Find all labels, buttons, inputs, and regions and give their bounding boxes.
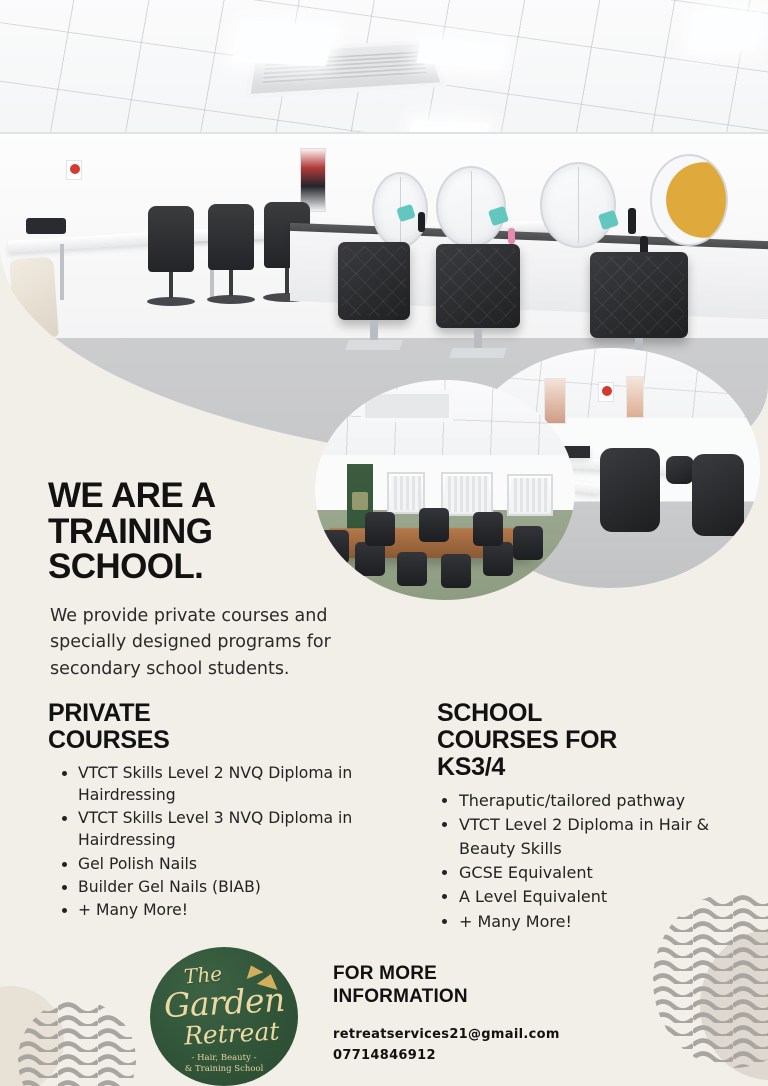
window — [441, 472, 493, 516]
fire-notice-sign — [598, 382, 614, 402]
styling-tool — [418, 212, 425, 232]
list-item: Builder Gel Nails (BIAB) — [78, 876, 398, 898]
desk-leg — [60, 244, 64, 300]
private-courses-list: VTCT Skills Level 2 NVQ Diploma in Haird… — [48, 762, 398, 921]
round-mirror — [436, 166, 506, 248]
logo-tagline-2: & Training School — [150, 1064, 298, 1074]
school-courses-heading-line-1: SCHOOL — [437, 700, 737, 727]
window — [387, 472, 425, 514]
salon-chair — [590, 252, 688, 338]
brand-logo: The Garden Retreat - Hair, Beauty - & Tr… — [150, 947, 298, 1086]
school-courses-heading: SCHOOL COURSES FOR KS3/4 — [437, 700, 737, 781]
contact-phone[interactable]: 07714846912 — [333, 1045, 560, 1066]
meeting-chair — [473, 512, 503, 546]
list-item: VTCT Level 2 Diploma in Hair & Beauty Sk… — [459, 813, 737, 860]
cream-chair — [9, 257, 58, 340]
school-courses-heading-line-2: COURSES FOR — [437, 727, 737, 754]
private-courses-heading: PRIVATE COURSES — [48, 700, 398, 754]
meeting-chair — [513, 526, 543, 560]
window — [507, 474, 553, 516]
wall-shadow-line — [0, 132, 768, 134]
contact-details: retreatservices21@gmail.com 07714846912 — [333, 1024, 560, 1066]
inset-photo-meeting-room — [315, 380, 575, 600]
product-bottle — [508, 228, 515, 244]
salon-chair — [436, 244, 520, 328]
list-item: VTCT Skills Level 2 NVQ Diploma in Haird… — [78, 762, 398, 806]
ceiling-light — [689, 12, 762, 50]
headline-line-1: WE ARE A — [48, 478, 348, 514]
list-item: GCSE Equivalent — [459, 861, 737, 884]
office-chair — [208, 204, 254, 270]
meeting-chair — [355, 542, 385, 576]
printer — [26, 218, 66, 234]
meeting-chair — [441, 554, 471, 588]
poster-root: WE ARE A TRAINING SCHOOL. We provide pri… — [0, 0, 768, 1086]
meeting-room-image — [315, 380, 575, 600]
office-chair — [600, 448, 660, 532]
intro-paragraph: We provide private courses and specially… — [50, 603, 360, 682]
styling-tool — [628, 208, 636, 234]
ceiling-light — [468, 348, 531, 358]
private-courses-heading-line-1: PRIVATE — [48, 700, 398, 727]
list-item: Theraputic/tailored pathway — [459, 789, 737, 812]
wall-poster — [626, 376, 644, 418]
school-courses-section: SCHOOL COURSES FOR KS3/4 Theraputic/tail… — [437, 700, 737, 934]
list-item: Gel Polish Nails — [78, 853, 398, 875]
round-mirror — [540, 162, 616, 248]
contact-heading-line-2: INFORMATION — [333, 985, 468, 1008]
headline-line-2: TRAINING — [48, 514, 348, 550]
private-courses-heading-line-2: COURSES — [48, 727, 398, 754]
office-chair — [148, 206, 194, 272]
list-item: + Many More! — [78, 899, 398, 921]
ceiling-ac-vent — [361, 390, 453, 422]
meeting-chair — [397, 552, 427, 586]
meeting-chair — [483, 542, 513, 576]
office-chair — [692, 454, 744, 536]
contact-heading-line-1: FOR MORE — [333, 962, 468, 985]
headline-line-3: SCHOOL. — [48, 549, 348, 585]
salon-chair — [338, 242, 410, 320]
meeting-chair — [365, 512, 395, 546]
round-mirror-door — [650, 154, 728, 246]
contact-email[interactable]: retreatservices21@gmail.com — [333, 1024, 560, 1045]
page-title: WE ARE A TRAINING SCHOOL. — [48, 478, 348, 585]
list-item: VTCT Skills Level 3 NVQ Diploma in Haird… — [78, 807, 398, 851]
contact-heading: FOR MORE INFORMATION — [333, 962, 468, 1008]
school-courses-heading-line-3: KS3/4 — [437, 754, 737, 781]
meeting-chair — [419, 508, 449, 542]
ceiling-light — [231, 21, 337, 66]
logo-tagline-1: - Hair, Beauty - — [150, 1053, 298, 1063]
fire-notice-sign — [66, 160, 82, 180]
private-courses-section: PRIVATE COURSES VTCT Skills Level 2 NVQ … — [48, 700, 398, 922]
logo-word-retreat: Retreat — [183, 1017, 280, 1051]
office-chair — [666, 456, 694, 484]
